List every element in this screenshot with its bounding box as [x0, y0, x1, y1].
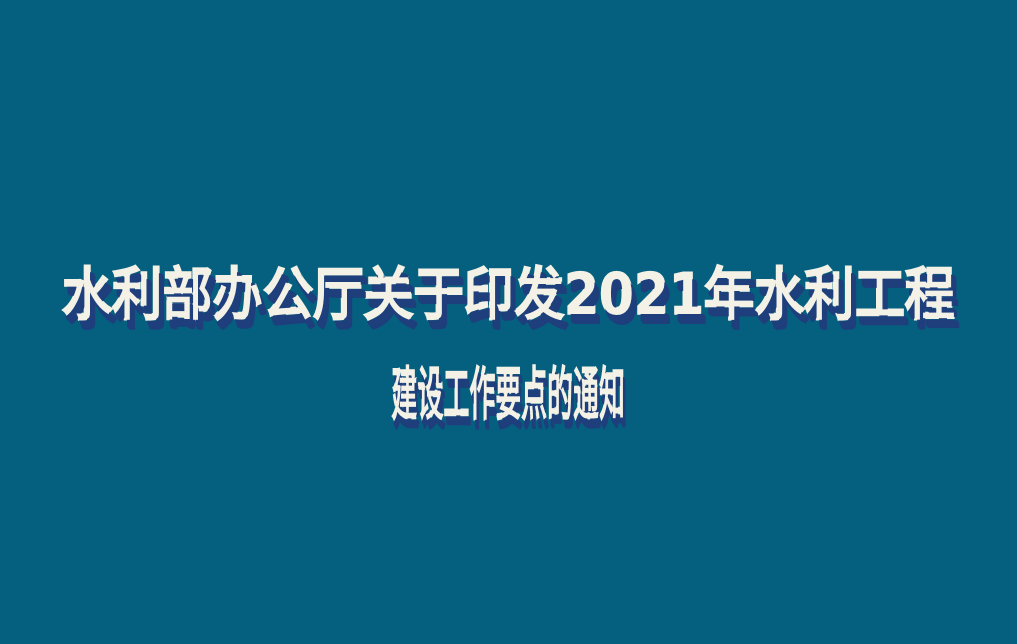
- page-title: 水利部办公厅关于印发2021年水利工程 建设工作要点的通知: [0, 255, 1017, 435]
- title-line-1: 水利部办公厅关于印发2021年水利工程: [61, 255, 957, 335]
- title-line-2: 建设工作要点的通知: [281, 355, 736, 435]
- title-banner: 水利部办公厅关于印发2021年水利工程 建设工作要点的通知: [0, 0, 1017, 644]
